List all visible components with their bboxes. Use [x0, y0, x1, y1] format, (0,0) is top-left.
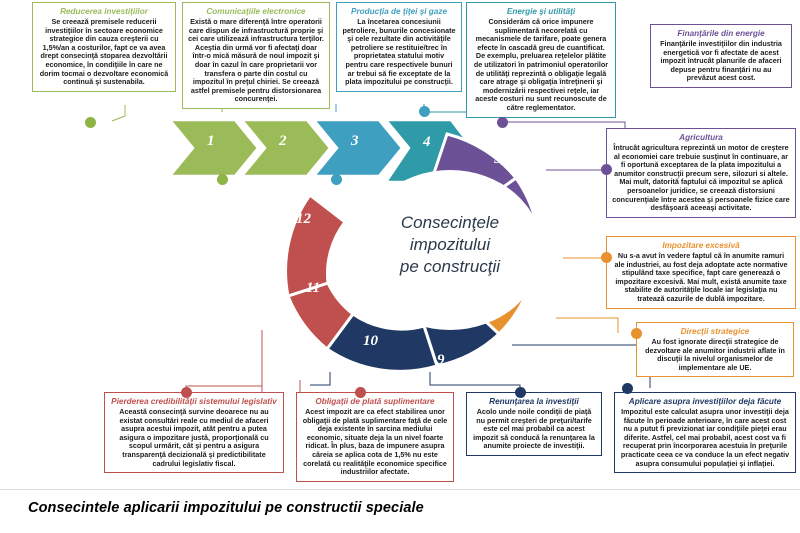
step-number-10: 10 [363, 333, 379, 349]
step-number-7: 7 [549, 260, 557, 276]
center-title-line-1: Consecinţele [370, 212, 530, 234]
callout-body: Nu s-a avut în vedere faptul că în anumi… [612, 252, 790, 304]
step-number-11: 11 [306, 280, 320, 296]
callout-body: Întrucât agricultura reprezintă un motor… [612, 144, 790, 213]
callout-impozitare-excesiva[interactable]: Impozitare excesivă Nu s-a avut în veder… [606, 236, 796, 309]
callout-title: Impozitare excesivă [612, 240, 790, 251]
callout-title: Renunţarea la investiţii [472, 396, 596, 407]
connector-dot-2 [217, 174, 228, 185]
connector-dot-3 [331, 174, 342, 185]
connector-1 [112, 105, 125, 121]
step-number-6: 6 [544, 194, 552, 210]
connector-dot-12 [181, 387, 192, 398]
callout-title: Reducerea investiţiilor [38, 6, 170, 17]
step-number-9: 9 [437, 352, 445, 368]
callout-title: Energie şi utilităţi [472, 6, 610, 17]
connector-dot-7 [601, 252, 612, 263]
callout-title: Pierderea credibilităţii sistemului legi… [110, 396, 278, 407]
callout-agricultura[interactable]: Agricultura Întrucât agricultura reprezi… [606, 128, 796, 218]
callout-body: Acolo unde noile condiţii de piaţă nu pe… [472, 408, 596, 451]
callout-body: Acest impozit are ca efect stabilirea un… [302, 408, 448, 477]
callout-reducerea-investitiilor[interactable]: Reducerea investiţiilor Se creează premi… [32, 2, 176, 92]
center-title-line-2: impozitului [370, 234, 530, 256]
callout-body: Se creează premisele reducerii investiţi… [38, 18, 170, 87]
callout-body: Considerăm că orice impunere suplimentar… [472, 18, 610, 113]
step-number-5: 5 [494, 151, 502, 167]
page-caption: Consecintele aplicarii impozitului pe co… [28, 500, 424, 516]
callout-title: Finanţările din energie [656, 28, 786, 39]
callout-aplicare-asupra-investitiilor-deja-facute[interactable]: Aplicare asupra investiţiilor deja făcut… [614, 392, 796, 473]
callout-comunicatiile-electronice[interactable]: Comunicaţiile electronice Există o mare … [182, 2, 330, 109]
connector-dot-8 [631, 328, 642, 339]
connector-8 [556, 318, 618, 333]
connector-dot-4 [419, 106, 430, 117]
connector-dot-11 [355, 387, 366, 398]
center-title: Consecinţele impozitului pe construcţii [370, 212, 530, 278]
connector-9 [512, 345, 650, 388]
callout-obligatii-de-plata-suplimentare[interactable]: Obligaţii de plată suplimentare Acest im… [296, 392, 454, 482]
callout-body: Această consecinţă survine deoarece nu a… [110, 408, 278, 468]
callout-productia-de-titei-si-gaze[interactable]: Producţia de ţiţei şi gaze La încetarea … [336, 2, 462, 92]
callout-energie-si-utilitati[interactable]: Energie şi utilităţi Considerăm că orice… [466, 2, 616, 118]
step-number-3: 3 [350, 133, 359, 149]
connector-dot-5 [497, 117, 508, 128]
connector-dot-10 [515, 387, 526, 398]
caption-divider [0, 489, 800, 490]
center-title-line-3: pe construcţii [370, 256, 530, 278]
connector-10b [310, 372, 330, 385]
step-number-8: 8 [516, 315, 524, 331]
infographic-canvas: 1 2 3 4 5 6 7 8 9 10 11 12 Consecinţele … [0, 0, 800, 533]
callout-title: Producţia de ţiţei şi gaze [342, 6, 456, 17]
callout-body: Impozitul este calculat asupra unor inve… [620, 408, 790, 468]
step-number-4: 4 [422, 134, 431, 150]
callout-body: Finanţările investiţiilor din industria … [656, 40, 786, 83]
callout-title: Agricultura [612, 132, 790, 143]
callout-pierderea-credibilitatii-sistemului-legislativ[interactable]: Pierderea credibilităţii sistemului legi… [104, 392, 284, 473]
connector-dot-6 [601, 164, 612, 175]
callout-title: Obligaţii de plată suplimentare [302, 396, 448, 407]
connector-dot-1 [85, 117, 96, 128]
callout-body: Au fost ignorate direcţii strategice de … [642, 338, 788, 372]
callout-title: Aplicare asupra investiţiilor deja făcut… [620, 396, 790, 407]
step-number-12: 12 [296, 211, 312, 227]
step-number-2: 2 [278, 133, 287, 149]
callout-title: Direcţii strategice [642, 326, 788, 337]
connector-dot-9 [622, 383, 633, 394]
step-number-1: 1 [207, 133, 215, 149]
callout-directii-strategice[interactable]: Direcţii strategice Au fost ignorate dir… [636, 322, 794, 377]
callout-body: Există o mare diferenţă între operatorii… [188, 18, 324, 104]
connector-10 [430, 372, 520, 392]
callout-renuntarea-la-investitii[interactable]: Renunţarea la investiţii Acolo unde noil… [466, 392, 602, 456]
callout-body: La încetarea concesiunii petroliere, bun… [342, 18, 456, 87]
callout-finantarile-din-energie[interactable]: Finanţările din energie Finanţările inve… [650, 24, 792, 88]
callout-title: Comunicaţiile electronice [188, 6, 324, 17]
